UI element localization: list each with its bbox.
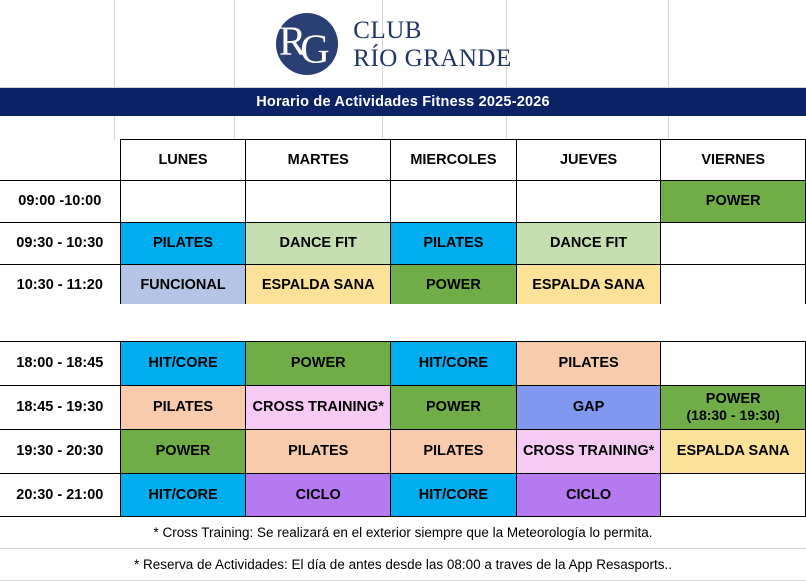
class-name: HIT/CORE [419, 487, 488, 503]
evening-class-cell-r3c2[interactable]: HIT/CORE [391, 474, 517, 518]
class-name: HIT/CORE [419, 355, 488, 371]
class-name: ESPALDA SANA [262, 277, 375, 293]
class-name: CICLO [296, 487, 341, 503]
morning-schedule-table: 09:00 -10:00POWER09:30 - 10:30PILATESDAN… [0, 180, 806, 307]
class-name: POWER [706, 391, 761, 407]
table-row: 19:30 - 20:30POWERPILATESPILATESCROSS TR… [0, 430, 806, 474]
grid-line [668, 116, 669, 140]
day-header-jueves: JUEVES [516, 140, 661, 183]
table-row: 18:00 - 18:45HIT/COREPOWERHIT/COREPILATE… [0, 342, 806, 386]
class-name: CICLO [566, 487, 611, 503]
evening-class-cell-r1c1[interactable]: CROSS TRAINING* [246, 386, 391, 430]
day-header-miercoles: MIERCOLES [391, 140, 517, 183]
morning-class-cell-r2c1[interactable]: ESPALDA SANA [246, 265, 391, 307]
class-name: ESPALDA SANA [532, 277, 645, 293]
morning-class-cell-r1c3[interactable]: DANCE FIT [516, 223, 661, 265]
evening-time-0: 18:00 - 18:45 [0, 342, 120, 386]
note-reserva: * Reserva de Actividades: El día de ante… [0, 549, 806, 581]
schedule-header-table: LUNES MARTES MIERCOLES JUEVES VIERNES [0, 139, 806, 183]
table-row: 09:00 -10:00POWER [0, 181, 806, 223]
class-name: PILATES [153, 235, 213, 251]
morning-empty-cell-r0c1 [246, 181, 391, 223]
morning-empty-cell-r1c4 [661, 223, 806, 265]
evening-class-cell-r2c0[interactable]: POWER [120, 430, 246, 474]
grid-line [234, 116, 235, 140]
evening-time-3: 20:30 - 21:00 [0, 474, 120, 518]
evening-class-cell-r1c3[interactable]: GAP [516, 386, 661, 430]
evening-class-cell-r2c2[interactable]: PILATES [391, 430, 517, 474]
evening-class-cell-r3c0[interactable]: HIT/CORE [120, 474, 246, 518]
evening-class-cell-r1c0[interactable]: PILATES [120, 386, 246, 430]
table-row: 20:30 - 21:00HIT/CORECICLOHIT/CORECICLO [0, 474, 806, 518]
class-name: POWER [291, 355, 346, 371]
morning-class-cell-r2c0[interactable]: FUNCIONAL [120, 265, 246, 307]
morning-time-2: 10:30 - 11:20 [0, 265, 120, 307]
note-cross-training: * Cross Training: Se realizará en el ext… [0, 516, 806, 549]
evening-class-cell-r1c4[interactable]: POWER(18:30 - 19:30) [661, 386, 806, 430]
class-name: PILATES [559, 355, 619, 371]
grid-line [506, 116, 507, 140]
class-name: ESPALDA SANA [677, 443, 790, 459]
morning-empty-cell-r0c3 [516, 181, 661, 223]
morning-class-cell-r1c1[interactable]: DANCE FIT [246, 223, 391, 265]
club-logo: R G CLUB RÍO GRANDE [274, 11, 511, 77]
table-row: 18:45 - 19:30PILATESCROSS TRAINING*POWER… [0, 386, 806, 430]
class-name: CROSS TRAINING* [523, 443, 654, 459]
class-time-note: (18:30 - 19:30) [661, 408, 805, 423]
header-row: LUNES MARTES MIERCOLES JUEVES VIERNES [0, 140, 806, 183]
morning-time-1: 09:30 - 10:30 [0, 223, 120, 265]
svg-text:G: G [300, 26, 330, 71]
class-name: GAP [573, 399, 604, 415]
morning-class-cell-r1c2[interactable]: PILATES [391, 223, 517, 265]
club-name-line2: RÍO GRANDE [353, 46, 511, 71]
class-name: HIT/CORE [148, 355, 217, 371]
class-name: PILATES [423, 443, 483, 459]
class-name: HIT/CORE [148, 487, 217, 503]
morning-empty-cell-r0c0 [120, 181, 246, 223]
morning-time-0: 09:00 -10:00 [0, 181, 120, 223]
header-corner-cell [0, 140, 120, 183]
club-name-line1: CLUB [353, 18, 511, 43]
evening-class-cell-r0c2[interactable]: HIT/CORE [391, 342, 517, 386]
morning-class-cell-r0c4[interactable]: POWER [661, 181, 806, 223]
morning-class-cell-r2c3[interactable]: ESPALDA SANA [516, 265, 661, 307]
day-header-viernes: VIERNES [661, 140, 806, 183]
evening-time-1: 18:45 - 19:30 [0, 386, 120, 430]
class-name: CROSS TRAINING* [253, 399, 384, 415]
table-row: 09:30 - 10:30PILATESDANCE FITPILATESDANC… [0, 223, 806, 265]
footer-notes: * Cross Training: Se realizará en el ext… [0, 516, 806, 581]
evening-schedule-table: 18:00 - 18:45HIT/COREPOWERHIT/COREPILATE… [0, 341, 806, 518]
morning-empty-cell-r2c4 [661, 265, 806, 307]
class-name: POWER [706, 193, 761, 209]
evening-class-cell-r3c3[interactable]: CICLO [516, 474, 661, 518]
morning-class-cell-r1c0[interactable]: PILATES [120, 223, 246, 265]
page-title: Horario de Actividades Fitness 2025-2026 [0, 88, 806, 116]
day-header-lunes: LUNES [120, 140, 246, 183]
class-name: PILATES [153, 399, 213, 415]
class-name: POWER [156, 443, 211, 459]
day-header-martes: MARTES [246, 140, 391, 183]
morning-empty-cell-r0c2 [391, 181, 517, 223]
section-spacer [0, 304, 806, 342]
evening-empty-cell-r0c4 [661, 342, 806, 386]
evening-class-cell-r2c1[interactable]: PILATES [246, 430, 391, 474]
evening-empty-cell-r3c4 [661, 474, 806, 518]
schedule-sheet: R G CLUB RÍO GRANDE Horario de Actividad… [0, 0, 806, 578]
club-name: CLUB RÍO GRANDE [353, 18, 511, 71]
class-name: PILATES [423, 235, 483, 251]
rg-monogram-icon: R G [274, 11, 340, 77]
evening-class-cell-r3c1[interactable]: CICLO [246, 474, 391, 518]
class-name: PILATES [288, 443, 348, 459]
evening-class-cell-r0c0[interactable]: HIT/CORE [120, 342, 246, 386]
class-name: DANCE FIT [280, 235, 357, 251]
class-name: DANCE FIT [550, 235, 627, 251]
morning-class-cell-r2c2[interactable]: POWER [391, 265, 517, 307]
evening-class-cell-r1c2[interactable]: POWER [391, 386, 517, 430]
evening-class-cell-r0c1[interactable]: POWER [246, 342, 391, 386]
evening-class-cell-r2c3[interactable]: CROSS TRAINING* [516, 430, 661, 474]
class-name: POWER [426, 277, 481, 293]
evening-class-cell-r2c4[interactable]: ESPALDA SANA [661, 430, 806, 474]
grid-line [114, 116, 115, 140]
class-name: FUNCIONAL [140, 277, 225, 293]
grid-line [382, 116, 383, 140]
class-name: POWER [426, 399, 481, 415]
brand-header: R G CLUB RÍO GRANDE [0, 0, 806, 88]
evening-time-2: 19:30 - 20:30 [0, 430, 120, 474]
evening-class-cell-r0c3[interactable]: PILATES [516, 342, 661, 386]
table-row: 10:30 - 11:20FUNCIONALESPALDA SANAPOWERE… [0, 265, 806, 307]
